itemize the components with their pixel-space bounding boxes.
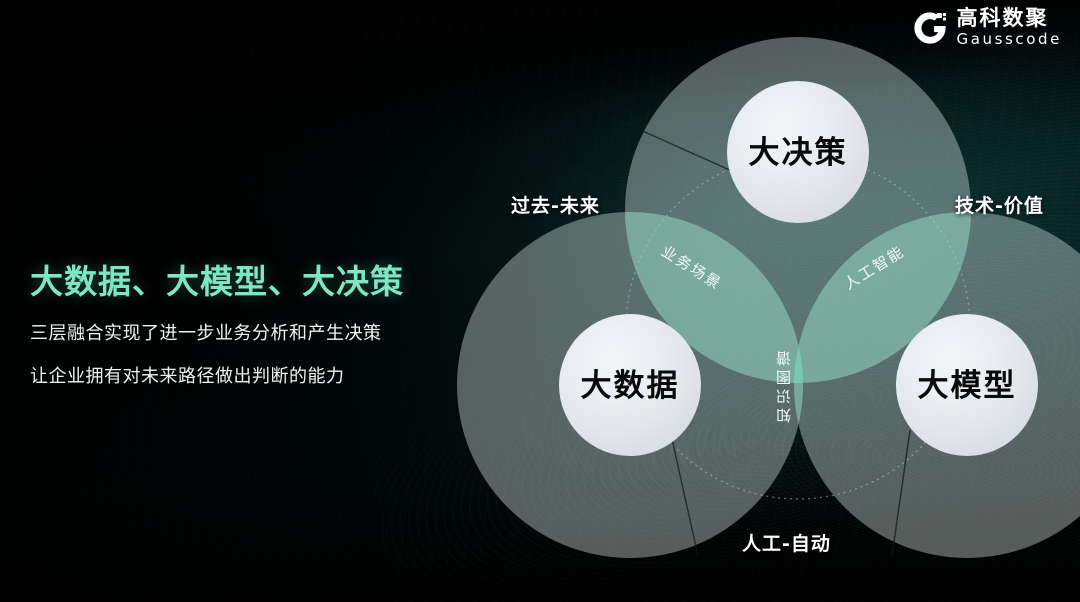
subtitle-line-1: 三层融合实现了进一步业务分析和产生决策	[30, 319, 460, 345]
left-text-block: 大数据、大模型、大决策 三层融合实现了进一步业务分析和产生决策 让企业拥有对未来…	[30, 255, 460, 405]
axis-caption-past-future: 过去-未来	[511, 191, 600, 218]
subtitle-line-2: 让企业拥有对未来路径做出判断的能力	[30, 362, 460, 388]
slide-root: 高科数聚 Gausscode 大数据、大模型、大决策 三层融合实现了进一步业务分…	[0, 0, 1080, 602]
core-label-bigmodel: 大模型	[918, 368, 1017, 404]
axis-caption-tech-value: 技术-价值	[955, 191, 1044, 218]
core-label-decision: 大决策	[749, 135, 848, 171]
venn-diagram: 大决策 大数据 大模型 业务场景 人工智能 知识图谱	[440, 0, 1080, 602]
intersection-label-knowledge-graph: 知识图谱	[775, 347, 793, 423]
axis-caption-manual-auto: 人工-自动	[742, 529, 831, 556]
page-title: 大数据、大模型、大决策	[30, 255, 460, 303]
core-label-bigdata: 大数据	[581, 368, 680, 404]
